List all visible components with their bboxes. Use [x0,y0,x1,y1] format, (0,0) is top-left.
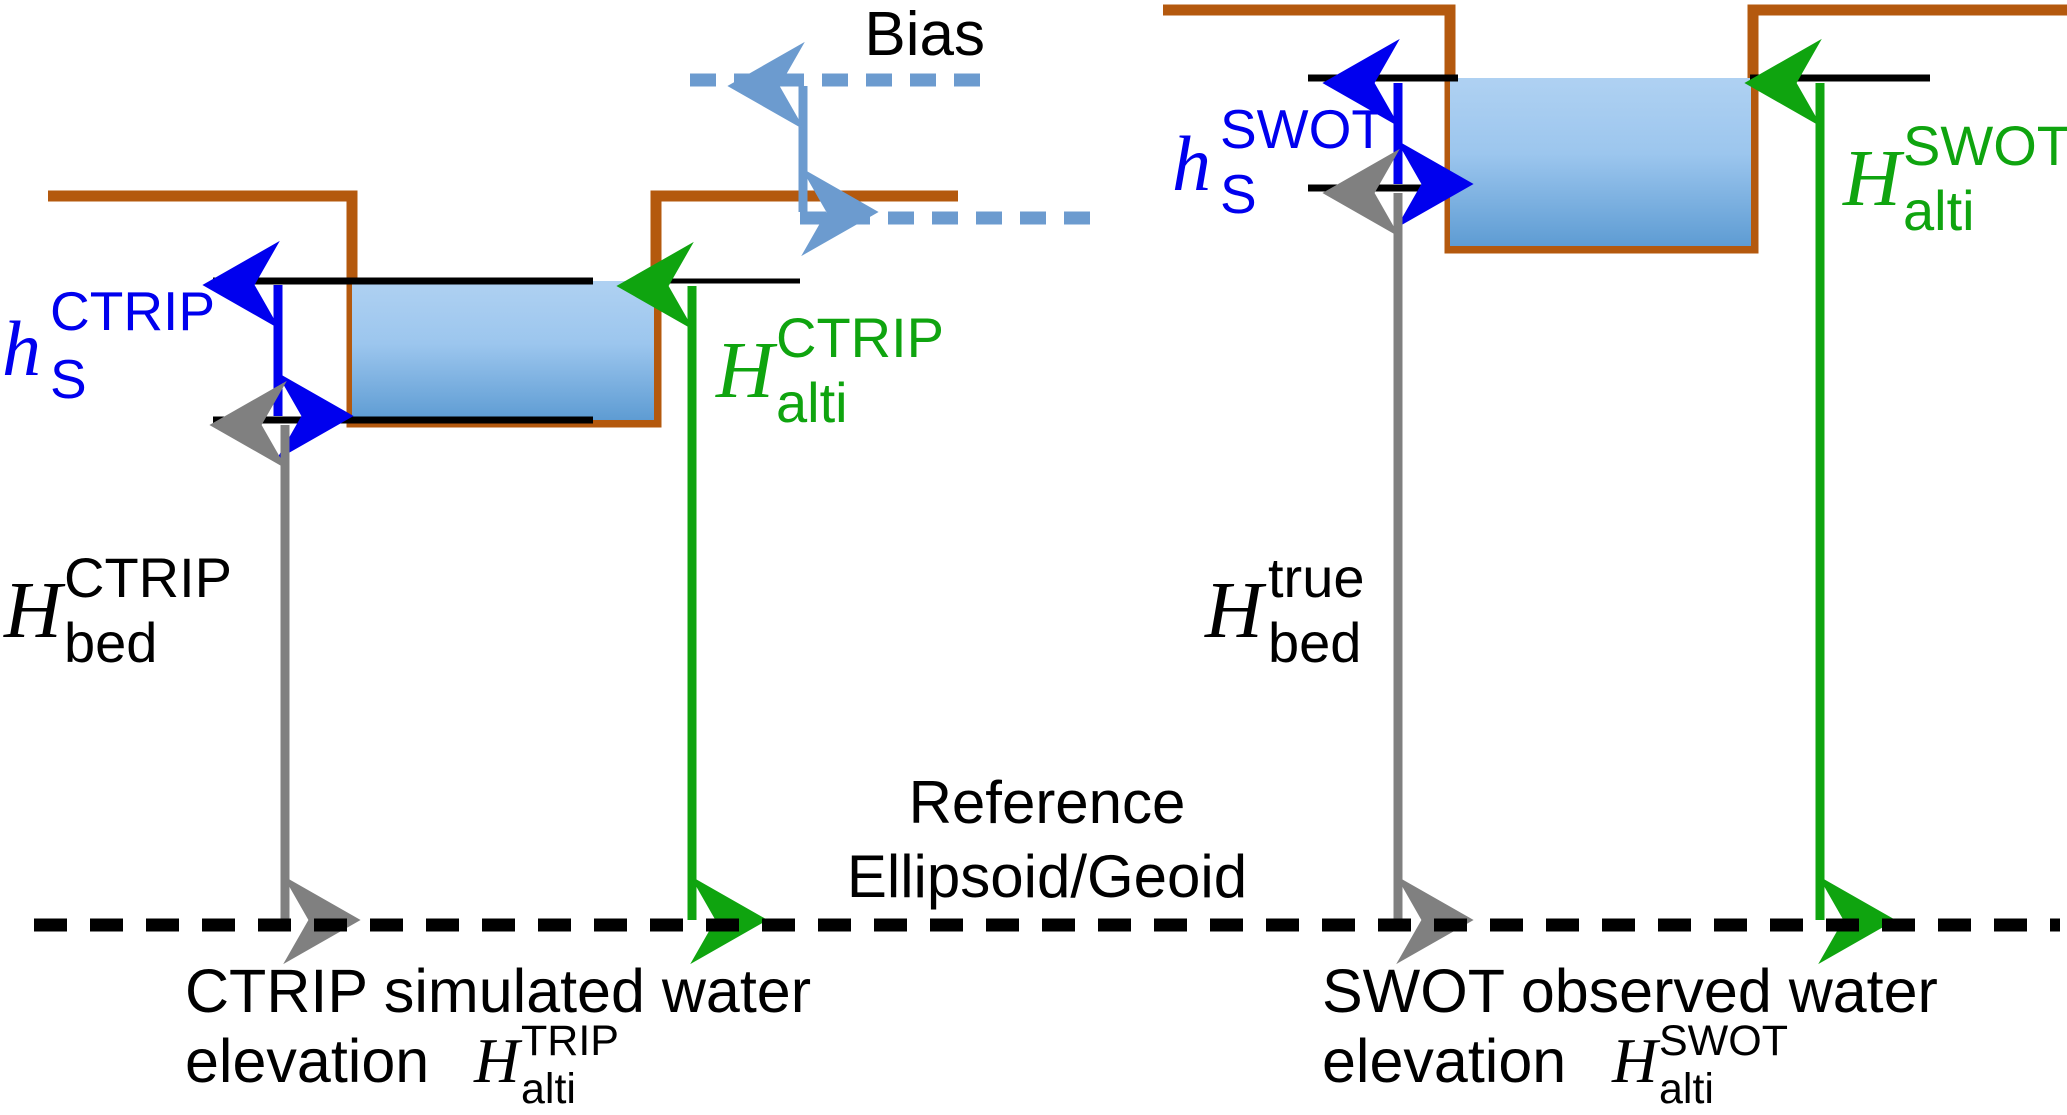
right-water-depth-symbol: h [1172,120,1211,207]
right-alti-elevation-subscript: alti [1903,179,1975,242]
left-channel-water [352,281,654,420]
left-caption-subscript: alti [521,1065,576,1113]
left-caption-superscript: TRIP [521,1017,619,1065]
left-bed-elevation-label: H CTRIP bed [3,546,232,674]
right-caption-line2-prefix: elevation [1322,1027,1566,1095]
right-bed-elevation-label: H true bed [1204,546,1365,674]
left-water-depth-label: h CTRIP S [2,280,215,410]
left-caption-line2-prefix: elevation [185,1027,429,1095]
diagram-svg: h CTRIP S H CTRIP bed H CTRIP alti Bias [0,0,2067,1115]
left-alti-elevation-symbol: H [715,327,778,415]
right-water-depth-subscript: S [1220,163,1257,225]
left-alti-elevation-label: H CTRIP alti [715,306,944,434]
left-panel-caption: CTRIP simulated water elevation H TRIP a… [185,957,811,1113]
left-bed-elevation-symbol: H [3,567,66,655]
reference-datum-label: Reference Ellipsoid/Geoid [847,769,1247,910]
left-water-depth-symbol: h [2,305,41,392]
bias-label: Bias [864,0,985,69]
left-alti-elevation-subscript: alti [776,371,848,434]
right-bed-elevation-subscript: bed [1268,611,1361,674]
right-caption-symbol: H [1611,1026,1661,1096]
right-bed-elevation-superscript: true [1268,546,1365,609]
right-caption-line1: SWOT observed water [1322,957,1938,1025]
right-water-depth-superscript: SWOT [1220,98,1385,160]
right-water-depth-label: h SWOT S [1172,98,1385,225]
right-alti-elevation-superscript: SWOT [1903,114,2067,177]
reference-datum-label-line1: Reference [909,769,1186,836]
right-caption-subscript: alti [1659,1065,1714,1113]
left-water-depth-superscript: CTRIP [50,280,215,342]
left-water-depth-subscript: S [50,348,87,410]
left-bed-elevation-superscript: CTRIP [64,546,232,609]
right-caption-superscript: SWOT [1659,1017,1788,1065]
left-caption-symbol: H [473,1026,523,1096]
left-caption-line1: CTRIP simulated water [185,957,811,1025]
left-alti-elevation-superscript: CTRIP [776,306,944,369]
reference-datum-label-line2: Ellipsoid/Geoid [847,843,1247,910]
right-bed-elevation-symbol: H [1204,567,1267,655]
figure-canvas: h CTRIP S H CTRIP bed H CTRIP alti Bias [0,0,2067,1115]
left-bed-elevation-subscript: bed [64,611,157,674]
right-panel-caption: SWOT observed water elevation H SWOT alt… [1322,957,1938,1113]
right-alti-elevation-label: H SWOT alti [1842,114,2067,242]
right-channel-water [1450,78,1751,246]
right-alti-elevation-symbol: H [1842,135,1905,223]
